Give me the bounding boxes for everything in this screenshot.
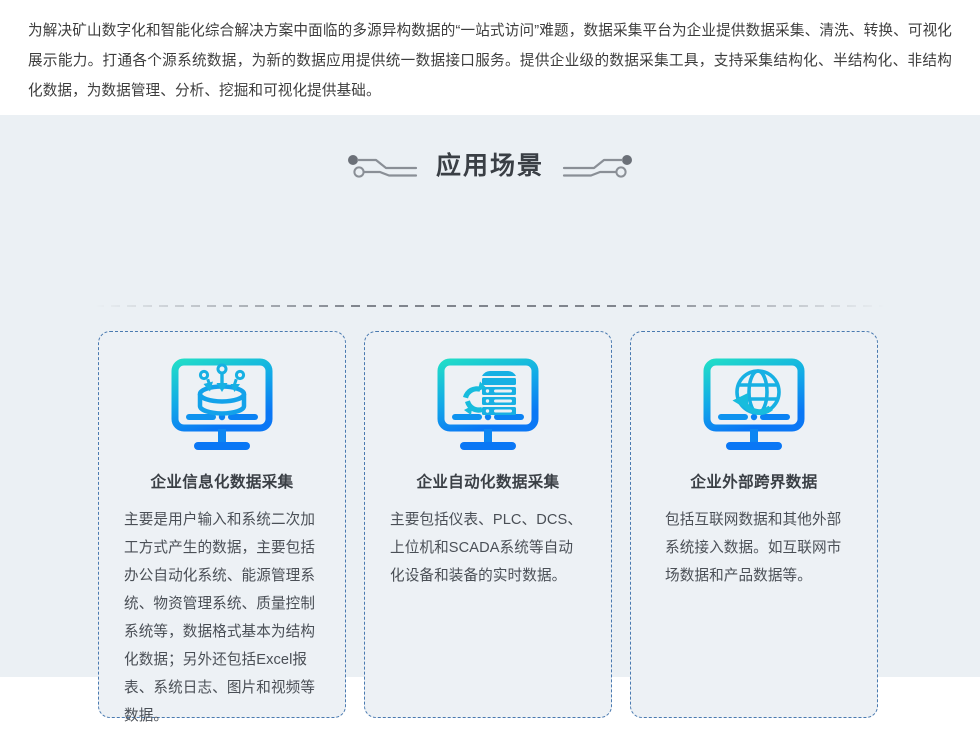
- scenario-card-list: 企业信息化数据采集 主要是用户输入和系统二次加工方式产生的数据，主要包括办公自动…: [98, 331, 878, 718]
- scenario-card-body: 主要包括仪表、PLC、DCS、上位机和SCADA系统等自动化设备和装备的实时数据…: [390, 506, 586, 590]
- monitor-database-import-icon: [166, 354, 278, 458]
- scenario-card-title: 企业外部跨界数据: [690, 470, 817, 492]
- monitor-globe-refresh-icon: [698, 354, 810, 458]
- application-scenarios-section: 应用场景: [0, 115, 980, 677]
- intro-section: 为解决矿山数字化和智能化综合解决方案中面临的多源异构数据的“一站式访问”难题，数…: [0, 0, 980, 115]
- circuit-node-right-icon: [562, 151, 634, 181]
- scenario-card[interactable]: 企业自动化数据采集 主要包括仪表、PLC、DCS、上位机和SCADA系统等自动化…: [364, 331, 612, 718]
- scenario-card-title: 企业自动化数据采集: [416, 470, 559, 492]
- dashed-divider: [95, 305, 885, 307]
- section-title: 应用场景: [436, 154, 544, 179]
- scenario-card[interactable]: 企业信息化数据采集 主要是用户输入和系统二次加工方式产生的数据，主要包括办公自动…: [98, 331, 346, 718]
- scenario-card-body: 包括互联网数据和其他外部系统接入数据。如互联网市场数据和产品数据等。: [665, 506, 843, 590]
- circuit-node-left-icon: [346, 151, 418, 181]
- intro-paragraph: 为解决矿山数字化和智能化综合解决方案中面临的多源异构数据的“一站式访问”难题，数…: [28, 16, 952, 106]
- monitor-server-sync-icon: [432, 354, 544, 458]
- scenario-card-title: 企业信息化数据采集: [150, 470, 293, 492]
- section-heading: 应用场景: [0, 115, 980, 195]
- scenario-card[interactable]: 企业外部跨界数据 包括互联网数据和其他外部系统接入数据。如互联网市场数据和产品数…: [630, 331, 878, 718]
- scenario-card-body: 主要是用户输入和系统二次加工方式产生的数据，主要包括办公自动化系统、能源管理系统…: [124, 506, 320, 730]
